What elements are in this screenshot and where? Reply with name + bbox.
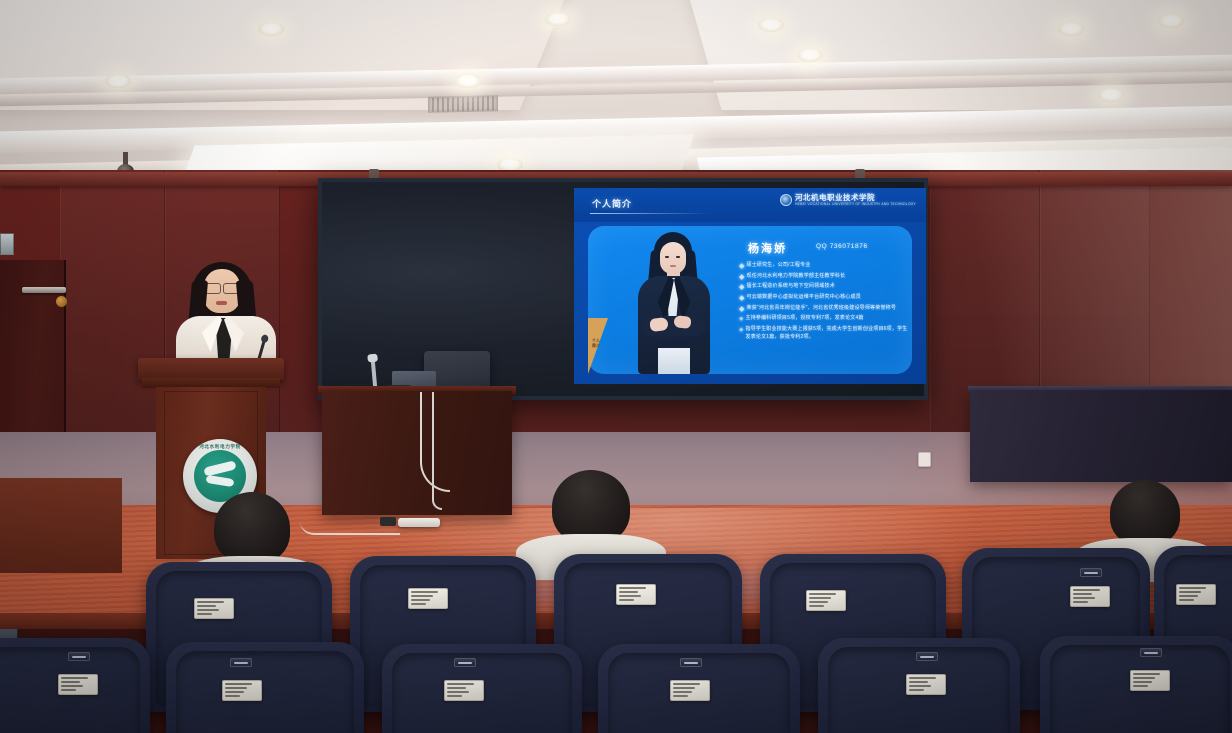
- security-camera-icon: [123, 152, 128, 166]
- seat-label-sticker: [1130, 670, 1170, 691]
- slide-bullet-item: 现任河北水利电力学院教学部主任教学科长: [740, 273, 908, 281]
- seat-label-sticker: [222, 680, 262, 701]
- seat-cushion: [176, 651, 354, 733]
- bullet-text: 硕士研究生，公司/工程专业: [747, 262, 811, 270]
- bullet-diamond-icon: [739, 263, 744, 268]
- seat-label-sticker: [1070, 586, 1110, 607]
- air-vent: [428, 95, 498, 112]
- seat-badge-icon: [68, 652, 90, 661]
- seat-label-sticker: [670, 680, 710, 701]
- qq-number: 736071876: [830, 243, 868, 250]
- presenter-mouth: [216, 301, 227, 305]
- seat-label-sticker: [194, 598, 234, 619]
- portrait-skirt: [658, 348, 690, 374]
- downlight-icon: [797, 48, 823, 62]
- seat-label-sticker: [444, 680, 484, 701]
- seat-badge-icon: [680, 658, 702, 667]
- podium-top-surface: [138, 358, 284, 380]
- seat-badge-icon: [1140, 648, 1162, 657]
- seat-label-sticker: [58, 674, 98, 695]
- slide-bullet-list: 硕士研究生，公司/工程专业现任河北水利电力学院教学部主任教学科长擅长工程造价系统…: [740, 262, 908, 344]
- slide-bullet-item: 荣获"河北省青年岗位能手"、河北省优秀班级建设导师等荣誉称号: [740, 305, 908, 313]
- downlight-icon: [455, 74, 481, 88]
- bullet-diamond-icon: [739, 328, 743, 332]
- slide-title-rule: [590, 213, 710, 214]
- bullet-text: 荣获"河北省青年岗位能手"、河北省优秀班级建设导师等荣誉称号: [747, 305, 897, 313]
- institution-logo: 河北机电职业技术学院 HEBEI VOCATIONAL UNIVERSITY O…: [780, 194, 916, 207]
- bullet-diamond-icon: [739, 317, 743, 321]
- wall-sign: [0, 233, 14, 255]
- led-display-panel[interactable]: 个人简介 河北机电职业技术学院 HEBEI VOCATIONAL UNIVERS…: [318, 178, 928, 400]
- bullet-diamond-icon: [739, 295, 744, 300]
- seat-label-sticker: [906, 674, 946, 695]
- seat[interactable]: [818, 638, 1020, 733]
- slide-corner-text: 个人简介: [592, 338, 602, 348]
- seat[interactable]: [598, 644, 800, 733]
- slide-content-card: 个人简介: [588, 226, 912, 374]
- portrait-eye-left: [665, 256, 669, 258]
- bullet-diamond-icon: [739, 285, 744, 290]
- slide-bullet-item: 主持参编科研项目5项，授权专利7项，发表论文4篇: [740, 315, 908, 323]
- institution-logo-text: 河北机电职业技术学院 HEBEI VOCATIONAL UNIVERSITY O…: [795, 194, 916, 207]
- seat[interactable]: [0, 638, 150, 733]
- slide-bullet-item: 擅长工程造价系统与地下空间领域技术: [740, 283, 908, 291]
- institution-logo-subtitle: HEBEI VOCATIONAL UNIVERSITY OF INDUSTRY …: [795, 203, 916, 207]
- ceiling: [0, 0, 1232, 190]
- bullet-text: 指导学生职业技能大赛上报获5项，完成大学生创新创业项目6项，学生发表论文1篇，获…: [746, 326, 909, 341]
- seat-label-sticker: [806, 590, 846, 611]
- seat-badge-icon: [916, 652, 938, 661]
- downlight-icon: [545, 12, 571, 26]
- seat-badge-icon: [230, 658, 252, 667]
- auditorium-scene: 个人简介 河北机电职业技术学院 HEBEI VOCATIONAL UNIVERS…: [0, 0, 1232, 733]
- slide-title: 个人简介: [592, 197, 632, 210]
- institution-logo-name: 河北机电职业技术学院: [795, 193, 875, 202]
- seat[interactable]: [1040, 636, 1232, 733]
- slide-portrait-figure: [630, 230, 716, 374]
- seat-label-sticker: [1176, 584, 1216, 605]
- portrait-hand-right: [673, 315, 691, 329]
- seat-badge-icon: [454, 658, 476, 667]
- bullet-diamond-icon: [739, 306, 744, 311]
- qq-label: QQ: [816, 243, 827, 250]
- seat-badge-icon: [1080, 568, 1102, 577]
- slide-qq-line: QQ 736071876: [816, 243, 868, 250]
- seat[interactable]: [166, 642, 364, 733]
- bullet-text: 可云端数据中心虚拟化运维平台研究中心核心成员: [747, 294, 861, 302]
- emblem-ring-text: 河北水利电力学院: [183, 444, 257, 450]
- presentation-slide: 个人简介 河北机电职业技术学院 HEBEI VOCATIONAL UNIVERS…: [574, 188, 926, 384]
- door-push-bar[interactable]: [22, 287, 66, 293]
- downlight-icon: [758, 18, 784, 32]
- bullet-text: 擅长工程造价系统与地下空间领域技术: [747, 283, 835, 291]
- downlight-icon: [1158, 14, 1184, 28]
- downlight-icon: [105, 74, 131, 88]
- door-closer-icon: [56, 296, 67, 307]
- wall-outlet-icon: [918, 452, 931, 467]
- portrait-eye-right: [676, 256, 680, 258]
- seat-label-sticker: [408, 588, 448, 609]
- slide-bullet-item: 硕士研究生，公司/工程专业: [740, 262, 908, 270]
- slide-presenter-name: 杨海娇: [748, 240, 787, 256]
- audience-seating: [0, 466, 1232, 733]
- portrait-mouth: [670, 265, 676, 267]
- downlight-icon: [1098, 88, 1124, 102]
- ceiling-coffer-right: [678, 0, 1232, 110]
- downlight-icon: [258, 22, 284, 36]
- seat-label-sticker: [616, 584, 656, 605]
- institution-logo-mark-icon: [780, 194, 792, 206]
- presenter-speaker: [168, 262, 284, 362]
- downlight-icon: [1058, 22, 1084, 36]
- seat[interactable]: [382, 644, 582, 733]
- glasses-icon: [204, 283, 240, 292]
- slide-bullet-item: 可云端数据中心虚拟化运维平台研究中心核心成员: [740, 294, 908, 302]
- bullet-text: 主持参编科研项目5项，授权专利7项，发表论文4篇: [746, 315, 864, 323]
- slide-bullet-item: 指导学生职业技能大赛上报获5项，完成大学生创新创业项目6项，学生发表论文1篇，获…: [740, 326, 908, 341]
- bullet-diamond-icon: [739, 274, 744, 279]
- bullet-text: 现任河北水利电力学院教学部主任教学科长: [747, 273, 846, 281]
